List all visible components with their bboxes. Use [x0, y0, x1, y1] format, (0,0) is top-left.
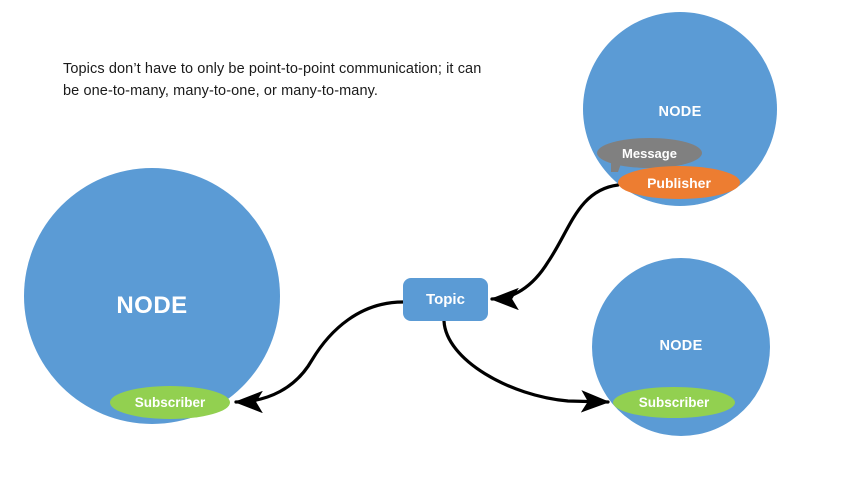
publisher-pill-label: Publisher [647, 175, 711, 191]
topic-box-label: Topic [426, 291, 465, 308]
subscriber-pill-bottom-right-label: Subscriber [639, 395, 710, 410]
node-left-label: NODE [24, 292, 280, 320]
diagram-canvas: Topics don’t have to only be point-to-po… [0, 0, 854, 480]
node-top-right-label: NODE [583, 104, 777, 120]
subscriber-pill-bottom-right[interactable]: Subscriber [613, 387, 735, 418]
message-bubble-label: Message [622, 146, 677, 161]
subscriber-pill-left-label: Subscriber [135, 395, 206, 410]
message-bubble-tail-icon [611, 158, 623, 172]
edge-topic-to-subscriber-bottom-right [444, 321, 608, 402]
node-bottom-right-label: NODE [592, 338, 770, 354]
topic-box[interactable]: Topic [403, 278, 488, 321]
subscriber-pill-left[interactable]: Subscriber [110, 386, 230, 419]
edge-publisher-to-topic [492, 185, 618, 299]
node-left[interactable]: NODE [24, 168, 280, 424]
caption-text: Topics don’t have to only be point-to-po… [63, 58, 483, 103]
publisher-pill[interactable]: Publisher [618, 166, 740, 199]
